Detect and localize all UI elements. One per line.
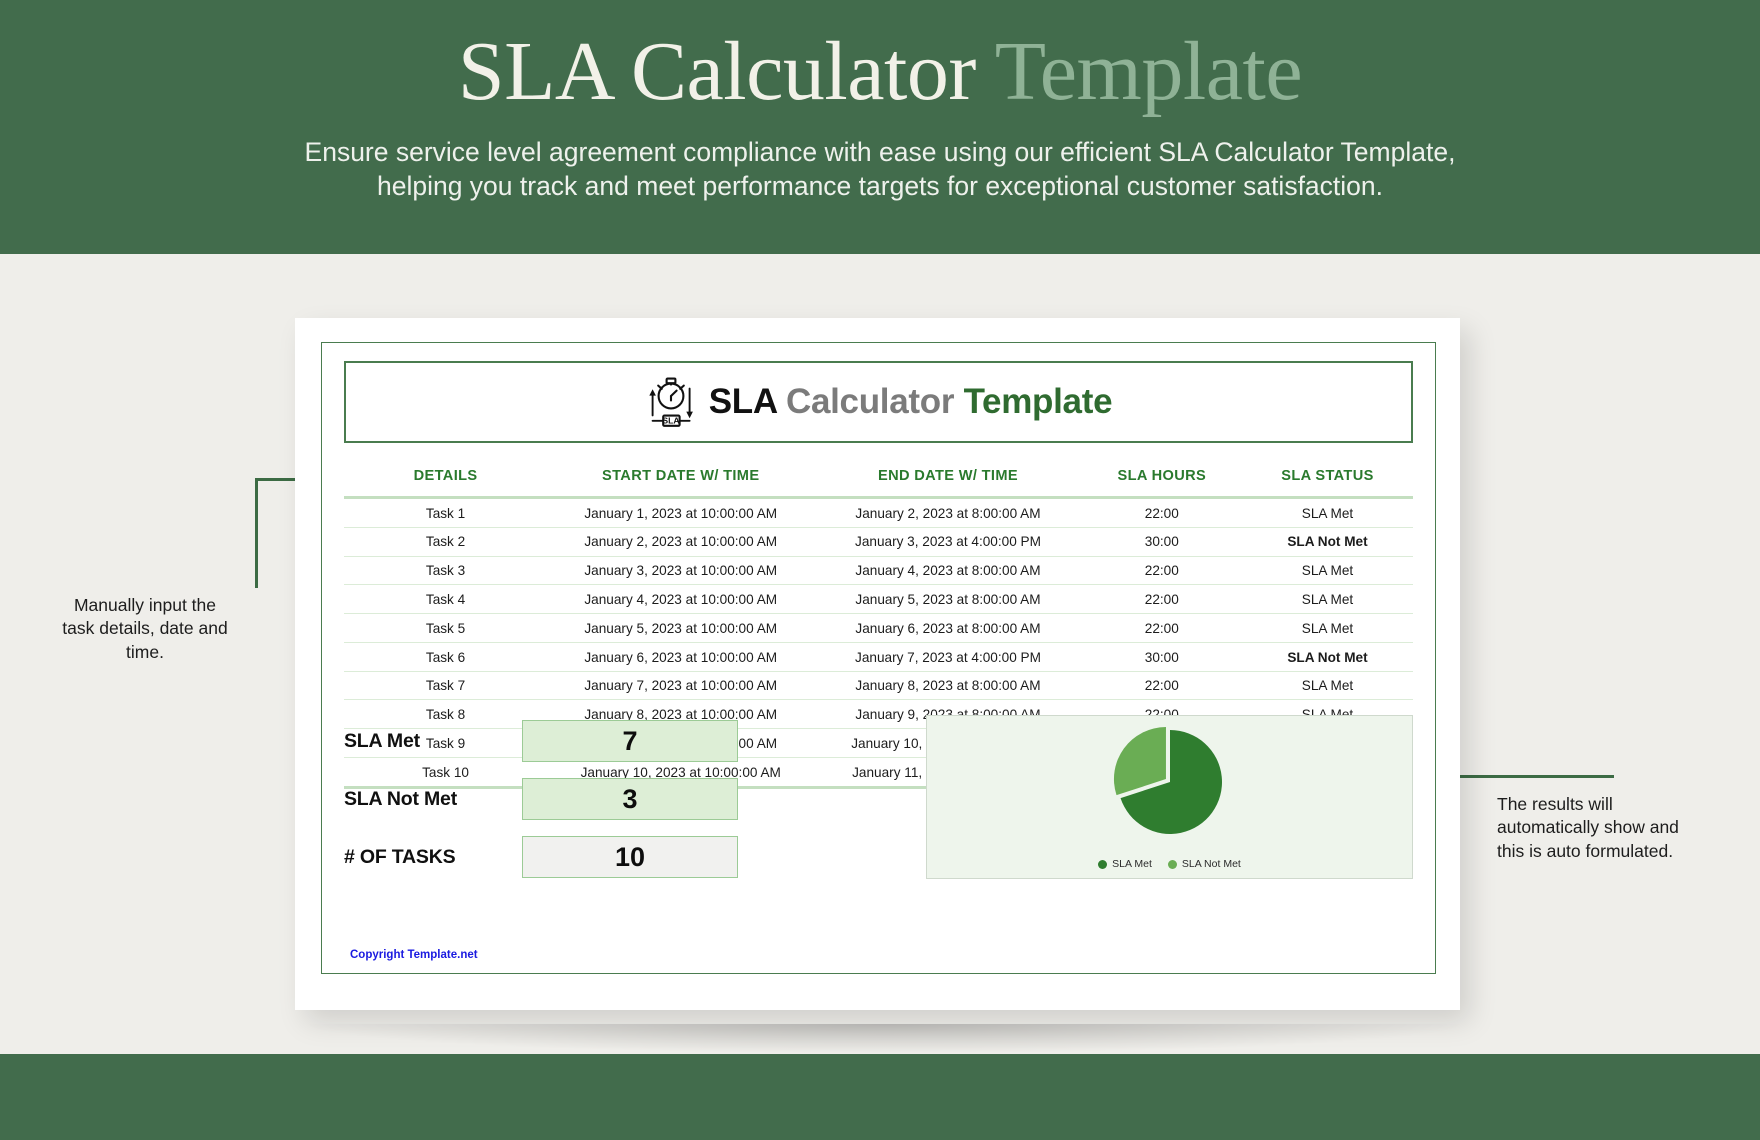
legend-swatch-icon bbox=[1168, 860, 1177, 869]
callout-left-leader-vertical bbox=[255, 478, 258, 588]
table-row[interactable]: Task 5January 5, 2023 at 10:00:00 AMJanu… bbox=[344, 614, 1413, 643]
start-date-cell[interactable]: January 1, 2023 at 10:00:00 AM bbox=[547, 498, 814, 528]
sla-hours-cell[interactable]: 22:00 bbox=[1082, 556, 1242, 585]
sla-status-cell: SLA Not Met bbox=[1242, 527, 1413, 556]
page-banner: SLA Calculator Template Ensure service l… bbox=[0, 0, 1760, 254]
sheet-title-word-2: Calculator bbox=[786, 382, 954, 421]
task-detail-cell[interactable]: Task 4 bbox=[344, 585, 547, 614]
sla-status-cell: SLA Met bbox=[1242, 556, 1413, 585]
sheet-title-word-3: Template bbox=[964, 382, 1113, 421]
callout-right-text: The results will automatically show and … bbox=[1497, 793, 1707, 863]
sla-status-cell: SLA Met bbox=[1242, 498, 1413, 528]
column-header-sla-status: SLA STATUS bbox=[1242, 461, 1413, 498]
start-date-cell[interactable]: January 3, 2023 at 10:00:00 AM bbox=[547, 556, 814, 585]
copyright-link[interactable]: Copyright Template.net bbox=[350, 949, 478, 961]
summary-value-box: 7 bbox=[522, 720, 738, 762]
summary-row: SLA Met7 bbox=[344, 719, 744, 763]
end-date-cell[interactable]: January 4, 2023 at 8:00:00 AM bbox=[814, 556, 1081, 585]
summary-block: SLA Met7SLA Not Met3# OF TASKS10 bbox=[344, 719, 744, 893]
pie-slice-sla-not-met bbox=[1113, 727, 1165, 795]
table-row[interactable]: Task 2January 2, 2023 at 10:00:00 AMJanu… bbox=[344, 527, 1413, 556]
legend-label: SLA Met bbox=[1112, 858, 1152, 870]
task-detail-cell[interactable]: Task 3 bbox=[344, 556, 547, 585]
sla-hours-cell[interactable]: 22:00 bbox=[1082, 671, 1242, 700]
document-card: SLA SLA Calculator Template bbox=[295, 318, 1460, 1010]
table-row[interactable]: Task 7January 7, 2023 at 10:00:00 AMJanu… bbox=[344, 671, 1413, 700]
table-header-row: DETAILS START DATE W/ TIME END DATE W/ T… bbox=[344, 461, 1413, 498]
svg-text:SLA: SLA bbox=[662, 416, 679, 426]
summary-label: SLA Not Met bbox=[344, 788, 522, 811]
end-date-cell[interactable]: January 8, 2023 at 8:00:00 AM bbox=[814, 671, 1081, 700]
page-subtitle: Ensure service level agreement complianc… bbox=[0, 136, 1760, 203]
summary-label: SLA Met bbox=[344, 730, 522, 753]
screenshot-root: SLA Calculator Template Ensure service l… bbox=[0, 0, 1760, 1140]
column-header-details: DETAILS bbox=[344, 461, 547, 498]
table-row[interactable]: Task 4January 4, 2023 at 10:00:00 AMJanu… bbox=[344, 585, 1413, 614]
task-detail-cell[interactable]: Task 5 bbox=[344, 614, 547, 643]
end-date-cell[interactable]: January 6, 2023 at 8:00:00 AM bbox=[814, 614, 1081, 643]
sla-hours-cell[interactable]: 22:00 bbox=[1082, 614, 1242, 643]
legend-item: SLA Not Met bbox=[1168, 858, 1241, 870]
summary-value-box: 10 bbox=[522, 836, 738, 878]
callout-left-text: Manually input the task details, date an… bbox=[60, 594, 230, 664]
sla-table-head: DETAILS START DATE W/ TIME END DATE W/ T… bbox=[344, 461, 1413, 498]
sla-pie-chart-panel: SLA MetSLA Not Met bbox=[926, 715, 1413, 879]
sla-status-cell: SLA Met bbox=[1242, 671, 1413, 700]
table-row[interactable]: Task 6January 6, 2023 at 10:00:00 AMJanu… bbox=[344, 642, 1413, 671]
pie-chart-legend: SLA MetSLA Not Met bbox=[927, 858, 1412, 870]
summary-value-box: 3 bbox=[522, 778, 738, 820]
start-date-cell[interactable]: January 5, 2023 at 10:00:00 AM bbox=[547, 614, 814, 643]
sla-hours-cell[interactable]: 22:00 bbox=[1082, 498, 1242, 528]
start-date-cell[interactable]: January 4, 2023 at 10:00:00 AM bbox=[547, 585, 814, 614]
task-detail-cell[interactable]: Task 1 bbox=[344, 498, 547, 528]
task-detail-cell[interactable]: Task 6 bbox=[344, 642, 547, 671]
spreadsheet-frame: SLA SLA Calculator Template bbox=[321, 342, 1436, 974]
sla-status-cell: SLA Met bbox=[1242, 614, 1413, 643]
legend-swatch-icon bbox=[1098, 860, 1107, 869]
start-date-cell[interactable]: January 2, 2023 at 10:00:00 AM bbox=[547, 527, 814, 556]
page-subtitle-line1: Ensure service level agreement complianc… bbox=[0, 136, 1760, 170]
end-date-cell[interactable]: January 3, 2023 at 4:00:00 PM bbox=[814, 527, 1081, 556]
sheet-title-word-1: SLA bbox=[709, 382, 777, 421]
summary-label: # OF TASKS bbox=[344, 846, 522, 869]
end-date-cell[interactable]: January 5, 2023 at 8:00:00 AM bbox=[814, 585, 1081, 614]
column-header-end-date: END DATE W/ TIME bbox=[814, 461, 1081, 498]
legend-label: SLA Not Met bbox=[1182, 858, 1241, 870]
page-subtitle-line2: helping you track and meet performance t… bbox=[0, 170, 1760, 204]
end-date-cell[interactable]: January 7, 2023 at 4:00:00 PM bbox=[814, 642, 1081, 671]
card-bottom-shadow bbox=[297, 1024, 1472, 1054]
sheet-title-box: SLA SLA Calculator Template bbox=[344, 361, 1413, 443]
sla-status-cell: SLA Met bbox=[1242, 585, 1413, 614]
sla-hours-cell[interactable]: 30:00 bbox=[1082, 642, 1242, 671]
start-date-cell[interactable]: January 7, 2023 at 10:00:00 AM bbox=[547, 671, 814, 700]
summary-row: # OF TASKS10 bbox=[344, 835, 744, 879]
sla-hours-cell[interactable]: 30:00 bbox=[1082, 527, 1242, 556]
sla-hours-cell[interactable]: 22:00 bbox=[1082, 585, 1242, 614]
summary-row: SLA Not Met3 bbox=[344, 777, 744, 821]
table-row[interactable]: Task 1January 1, 2023 at 10:00:00 AMJanu… bbox=[344, 498, 1413, 528]
column-header-start-date: START DATE W/ TIME bbox=[547, 461, 814, 498]
page-title: SLA Calculator Template bbox=[0, 0, 1760, 116]
sla-status-cell: SLA Not Met bbox=[1242, 642, 1413, 671]
sheet-title-text: SLA Calculator Template bbox=[709, 382, 1113, 422]
pie-chart bbox=[1102, 722, 1237, 853]
end-date-cell[interactable]: January 2, 2023 at 8:00:00 AM bbox=[814, 498, 1081, 528]
task-detail-cell[interactable]: Task 2 bbox=[344, 527, 547, 556]
page-title-primary: SLA Calculator bbox=[458, 25, 976, 118]
start-date-cell[interactable]: January 6, 2023 at 10:00:00 AM bbox=[547, 642, 814, 671]
page-bottom-band bbox=[0, 1054, 1760, 1140]
legend-item: SLA Met bbox=[1098, 858, 1152, 870]
table-row[interactable]: Task 3January 3, 2023 at 10:00:00 AMJanu… bbox=[344, 556, 1413, 585]
column-header-sla-hours: SLA HOURS bbox=[1082, 461, 1242, 498]
page-title-secondary: Template bbox=[995, 25, 1302, 118]
task-detail-cell[interactable]: Task 7 bbox=[344, 671, 547, 700]
stopwatch-sla-icon: SLA bbox=[645, 374, 697, 430]
